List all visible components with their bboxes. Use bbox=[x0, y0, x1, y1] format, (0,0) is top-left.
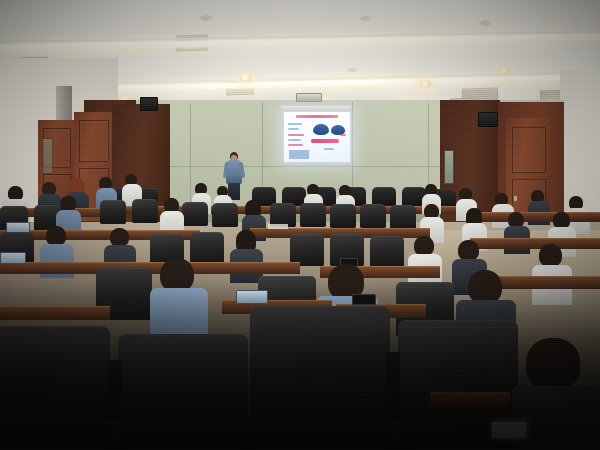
attendee-head bbox=[414, 236, 434, 256]
chair-armrest bbox=[386, 352, 400, 418]
door-panel bbox=[79, 120, 109, 162]
smoke-detector-icon bbox=[200, 15, 212, 21]
attendee-head bbox=[458, 240, 479, 261]
chair[interactable] bbox=[212, 203, 238, 227]
recessed-downlight-icon bbox=[240, 74, 251, 82]
desk-row-2-right bbox=[470, 212, 600, 222]
slide-accent-mark bbox=[340, 134, 346, 136]
recessed-downlight-icon bbox=[420, 80, 431, 88]
chair-armrest bbox=[108, 360, 122, 420]
chair-foreground[interactable] bbox=[118, 334, 248, 450]
desk-foreground-right bbox=[430, 392, 510, 407]
slide-text-line bbox=[288, 128, 299, 130]
projection-screen bbox=[283, 111, 351, 163]
laptop[interactable] bbox=[0, 252, 26, 264]
attendee-head bbox=[526, 338, 580, 390]
attendee-head bbox=[539, 244, 562, 267]
chair-foreground[interactable] bbox=[250, 306, 390, 450]
paper-document bbox=[268, 224, 288, 229]
chair[interactable] bbox=[132, 199, 158, 223]
desk-row-3-right bbox=[470, 238, 600, 249]
chair[interactable] bbox=[390, 205, 416, 230]
attendee-head bbox=[468, 270, 502, 304]
scene-title: Conference room training session bbox=[6, 437, 126, 446]
smoke-detector-icon bbox=[360, 16, 371, 21]
phone-on-desk[interactable] bbox=[352, 294, 376, 305]
chair[interactable] bbox=[360, 204, 386, 228]
chair[interactable] bbox=[370, 236, 404, 268]
wall-speaker-left bbox=[140, 97, 158, 111]
slide-text-line bbox=[324, 148, 334, 150]
slide-block-graphic bbox=[289, 150, 309, 159]
slide-cloud-icon bbox=[313, 124, 329, 135]
door-panel bbox=[512, 127, 546, 173]
recessed-downlight-icon bbox=[500, 68, 509, 74]
laptop[interactable] bbox=[236, 290, 268, 304]
lit-phone-screen[interactable] bbox=[492, 422, 526, 438]
slide-text-line bbox=[288, 134, 304, 136]
chair[interactable] bbox=[330, 204, 356, 228]
smoke-detector-icon bbox=[348, 68, 357, 72]
wall-sidelite-window bbox=[42, 138, 53, 174]
chair[interactable] bbox=[300, 203, 326, 227]
slide-title-bar bbox=[296, 115, 338, 118]
wall-speaker-right bbox=[478, 112, 498, 127]
door-knob-icon[interactable] bbox=[514, 196, 517, 201]
right-wall-window bbox=[444, 150, 454, 184]
slide-text-line bbox=[288, 139, 301, 141]
chair[interactable] bbox=[182, 202, 208, 226]
conference-room-photo: Conference room training session bbox=[0, 0, 600, 450]
attendee-head bbox=[46, 226, 66, 246]
slide-text-line bbox=[288, 144, 303, 146]
chair[interactable] bbox=[190, 232, 224, 264]
attendee-head bbox=[160, 258, 194, 292]
slide-text-line bbox=[288, 123, 302, 125]
desk-row-5-left bbox=[0, 306, 110, 320]
smoke-detector-icon bbox=[480, 20, 491, 26]
chair-foreground[interactable] bbox=[0, 326, 110, 450]
chair[interactable] bbox=[100, 200, 126, 224]
ceiling-projector bbox=[296, 93, 322, 102]
slide-banner bbox=[311, 139, 339, 143]
attendee-torso bbox=[512, 386, 600, 450]
